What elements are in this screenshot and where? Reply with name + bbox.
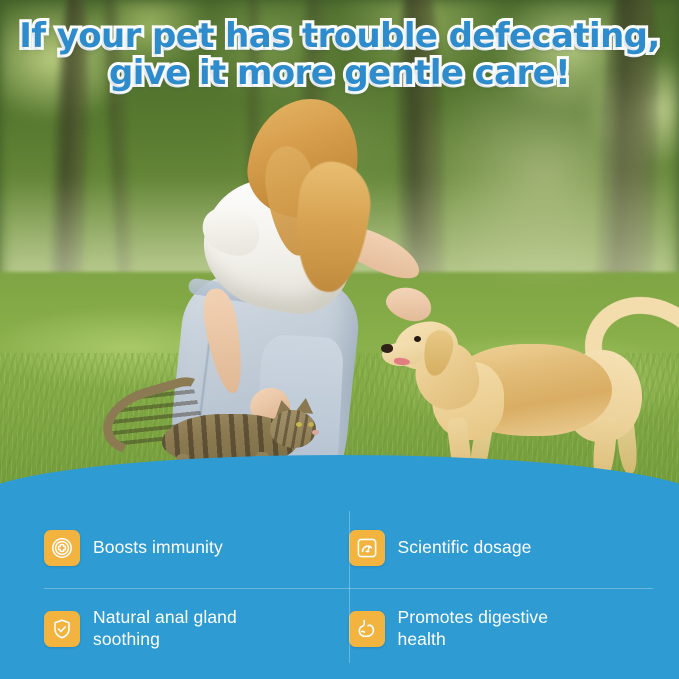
stomach-icon xyxy=(349,611,385,647)
cat-head xyxy=(270,410,316,448)
feature-label: Scientific dosage xyxy=(398,537,532,558)
feature-label: Boosts immunity xyxy=(93,537,223,558)
feature-label: Promotes digestive health xyxy=(398,607,588,650)
cat-eye xyxy=(308,422,314,427)
feature-divider-vertical xyxy=(349,511,350,663)
feature-item-boosts-immunity[interactable]: Boosts immunity xyxy=(44,507,349,588)
product-poster: If your pet has trouble defecating, give… xyxy=(0,0,679,679)
headline: If your pet has trouble defecating, give… xyxy=(0,18,679,91)
feature-item-promotes-digestive-health[interactable]: Promotes digestive health xyxy=(349,588,654,669)
medical-cross-badge-icon xyxy=(44,530,80,566)
feature-label: Natural anal gland soothing xyxy=(93,607,283,650)
cat-eye xyxy=(296,422,302,427)
dog-nose xyxy=(381,344,393,353)
feature-item-natural-anal-gland-soothing[interactable]: Natural anal gland soothing xyxy=(44,588,349,669)
dog-eye xyxy=(414,336,421,342)
feature-item-scientific-dosage[interactable]: Scientific dosage xyxy=(349,507,654,588)
feature-divider-horizontal xyxy=(44,588,653,589)
gauge-dial-icon xyxy=(349,530,385,566)
feature-grid: Boosts immunity Scientific dosage xyxy=(44,507,653,669)
shield-check-icon xyxy=(44,611,80,647)
headline-line-2: give it more gentle care! xyxy=(14,55,665,92)
cat-nose xyxy=(312,430,319,435)
headline-line-1: If your pet has trouble defecating, xyxy=(14,18,665,55)
feature-panel: Boosts immunity Scientific dosage xyxy=(0,455,679,679)
feature-panel-inner: Boosts immunity Scientific dosage xyxy=(0,507,679,679)
